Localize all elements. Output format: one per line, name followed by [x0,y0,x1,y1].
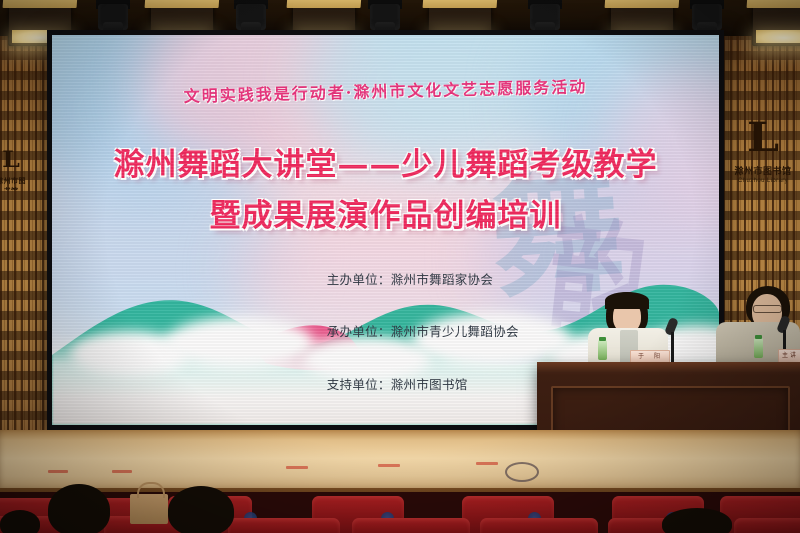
info-label-organizer: 主办单位： [327,272,391,287]
auditorium-photo: L 滁州市图书馆 L 滁州市图书馆 Chuzhou Library 舞 韵 [0,0,800,533]
info-value-undertaker: 滁州市青少儿舞蹈协会 [391,324,519,339]
audience-person-2 [168,486,234,533]
library-sign-right: L 滁州市图书馆 Chuzhou Library [733,112,793,240]
audience-person-1 [48,484,110,533]
library-logo-icon: L [729,118,798,158]
event-title-line-2: 暨成果展演作品创编培训 [52,190,719,235]
info-row-undertaker: 承办单位：滁州市青少儿舞蹈协会 [284,306,519,359]
seat-row1-5 [480,518,598,533]
water-bottle-left [598,340,607,360]
water-bottle-right [754,338,763,358]
event-info-block: 主办单位：滁州市舞蹈家协会 承办单位：滁州市青少儿舞蹈协会 支持单位：滁州市图书… [284,253,519,425]
audience-person-3 [662,508,732,533]
seat-row1-3 [228,518,340,533]
info-value-supporter: 滁州市图书馆 [391,377,468,392]
audience-person-4 [0,510,40,533]
library-sign-left-partial: L 滁州市图书馆 [0,150,26,190]
library-sign-left-label: 滁州市图书馆 [0,176,26,190]
fresnel-light-6 [752,2,800,46]
seat-row1-7 [734,518,800,533]
info-row-date: 时 间：2024年5月11日 [284,411,519,426]
info-row-organizer: 主办单位：滁州市舞蹈家协会 [284,253,519,306]
event-title-line-1: 滁州舞蹈大讲堂——少儿舞蹈考级教学 [52,139,719,184]
info-value-organizer: 滁州市舞蹈家协会 [391,272,493,287]
seat-row1-4 [352,518,470,533]
info-row-supporter: 支持单位：滁州市图书馆 [284,358,519,411]
tote-bag [130,494,168,524]
stage-cable-coil [505,462,539,482]
library-name-en: Chuzhou Library [733,178,793,184]
library-name-zh: 滁州市图书馆 [733,164,793,177]
stage-floor [0,430,800,492]
info-label-undertaker: 承办单位： [327,324,391,339]
eyeglasses [753,305,782,313]
info-label-supporter: 支持单位： [327,377,391,392]
